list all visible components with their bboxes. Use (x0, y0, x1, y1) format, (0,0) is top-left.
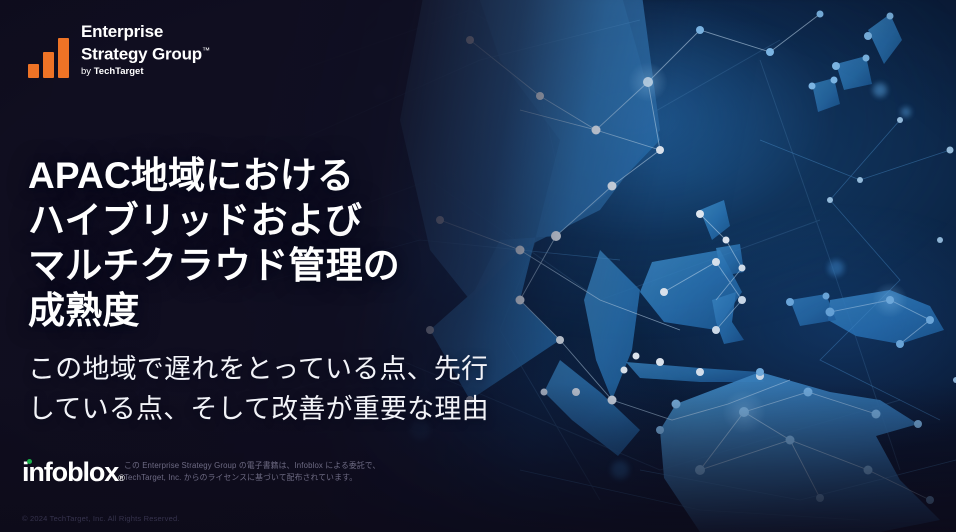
esg-byline-prefix: by (81, 66, 94, 77)
esg-line-2: Strategy Group™ (81, 41, 210, 64)
esg-byline-brand: TechTarget (94, 66, 144, 77)
license-disclaimer: この Enterprise Strategy Group の電子書籍は、Info… (124, 460, 400, 483)
enterprise-strategy-group-logo: Enterprise Strategy Group™ by TechTarget (28, 22, 210, 78)
esg-byline: by TechTarget (81, 65, 210, 78)
green-dot-icon (27, 459, 32, 464)
title-line-3: マルチクラウド管理の (28, 243, 588, 288)
page-subtitle: この地域で遅れをとっている点、先行 している点、そして改善が重要な理由 (28, 349, 628, 429)
esg-trademark: ™ (202, 46, 210, 55)
infoblox-logo: infoblox® (22, 458, 125, 492)
title-line-2: ハイブリッドおよび (28, 198, 588, 243)
subtitle-line-2: している点、そして改善が重要な理由 (28, 389, 628, 429)
esg-line-2-text: Strategy Group (81, 45, 202, 64)
bar-chart-logo-icon (28, 38, 69, 78)
esg-line-1: Enterprise (81, 22, 210, 41)
infoblox-wordmark: infoblox (22, 457, 118, 487)
subtitle-line-1: この地域で遅れをとっている点、先行 (28, 349, 628, 389)
copyright-notice: © 2024 TechTarget, Inc. All Rights Reser… (22, 513, 180, 524)
esg-wordmark: Enterprise Strategy Group™ by TechTarget (81, 22, 210, 78)
disclaimer-line-2: TechTarget, Inc. からのライセンスに基づいて配布されています。 (124, 472, 400, 484)
page-title: APAC地域における ハイブリッドおよび マルチクラウド管理の 成熟度 (28, 153, 588, 333)
title-line-1: APAC地域における (28, 153, 588, 198)
disclaimer-line-1: この Enterprise Strategy Group の電子書籍は、Info… (124, 460, 400, 472)
title-line-4: 成熟度 (28, 288, 588, 333)
ebook-cover: Enterprise Strategy Group™ by TechTarget… (0, 0, 956, 532)
